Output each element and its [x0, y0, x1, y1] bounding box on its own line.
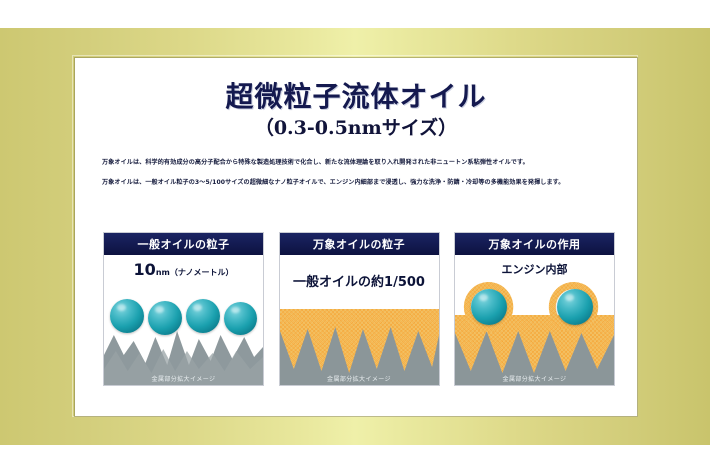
- panel-banshou-oil-particles: 万象オイルの粒子 一般オイルの約1/500: [279, 232, 440, 386]
- panel-2-caption: 金属部分拡大イメージ: [280, 374, 439, 383]
- slide-content-card: 超微粒子流体オイル （0.3-0.5nmサイズ） 万象オイルは、科学的有効成分の…: [75, 58, 637, 416]
- page-title: 超微粒子流体オイル: [75, 75, 637, 115]
- panel-3-header: 万象オイルの作用: [455, 233, 614, 255]
- panel-3-caption: 金属部分拡大イメージ: [455, 374, 614, 383]
- panel-2-ratio-label: 一般オイルの約1/500: [280, 271, 439, 290]
- oil-particle-sphere: [148, 301, 182, 335]
- panel-2-body: 一般オイルの約1/500: [280, 255, 439, 386]
- panel-3-engine-label: エンジン内部: [455, 261, 614, 277]
- oil-particle-sphere: [224, 302, 257, 335]
- description-line-1: 万象オイルは、科学的有効成分の高分子配合から特殊な製造処理技術で化合し、新たな流…: [102, 153, 614, 173]
- panel-1-size-value: 10: [134, 260, 156, 279]
- panel-1-size-label: 10nm（ナノメートル）: [104, 260, 263, 279]
- diagram-panel-row: 一般オイルの粒子 10nm（ナノメートル）: [103, 232, 615, 386]
- panel-banshou-oil-action: 万象オイルの作用 エンジン内部: [454, 232, 615, 386]
- description-paragraph: 万象オイルは、科学的有効成分の高分子配合から特殊な製造処理技術で化合し、新たな流…: [102, 153, 614, 193]
- panel-1-header: 一般オイルの粒子: [104, 233, 263, 255]
- oil-particle-sphere: [471, 289, 507, 325]
- description-line-2: 万象オイルは、一般オイル粒子の3～5/100サイズの超微細なナノ粒子オイルで、エ…: [102, 173, 614, 193]
- panel-1-body: 10nm（ナノメートル） 金属部分拡大イメージ: [104, 255, 263, 386]
- page-subtitle: （0.3-0.5nmサイズ）: [75, 113, 637, 140]
- panel-1-caption: 金属部分拡大イメージ: [104, 374, 263, 383]
- panel-1-size-unit: nm（ナノメートル）: [156, 268, 234, 277]
- oil-particle-sphere: [186, 299, 220, 333]
- panel-general-oil-particles: 一般オイルの粒子 10nm（ナノメートル）: [103, 232, 264, 386]
- panel-3-body: エンジン内部: [455, 255, 614, 386]
- oil-particle-sphere: [557, 289, 593, 325]
- oil-particle-sphere: [110, 299, 144, 333]
- slide-canvas: 超微粒子流体オイル （0.3-0.5nmサイズ） 万象オイルは、科学的有効成分の…: [0, 0, 710, 474]
- panel-2-header: 万象オイルの粒子: [280, 233, 439, 255]
